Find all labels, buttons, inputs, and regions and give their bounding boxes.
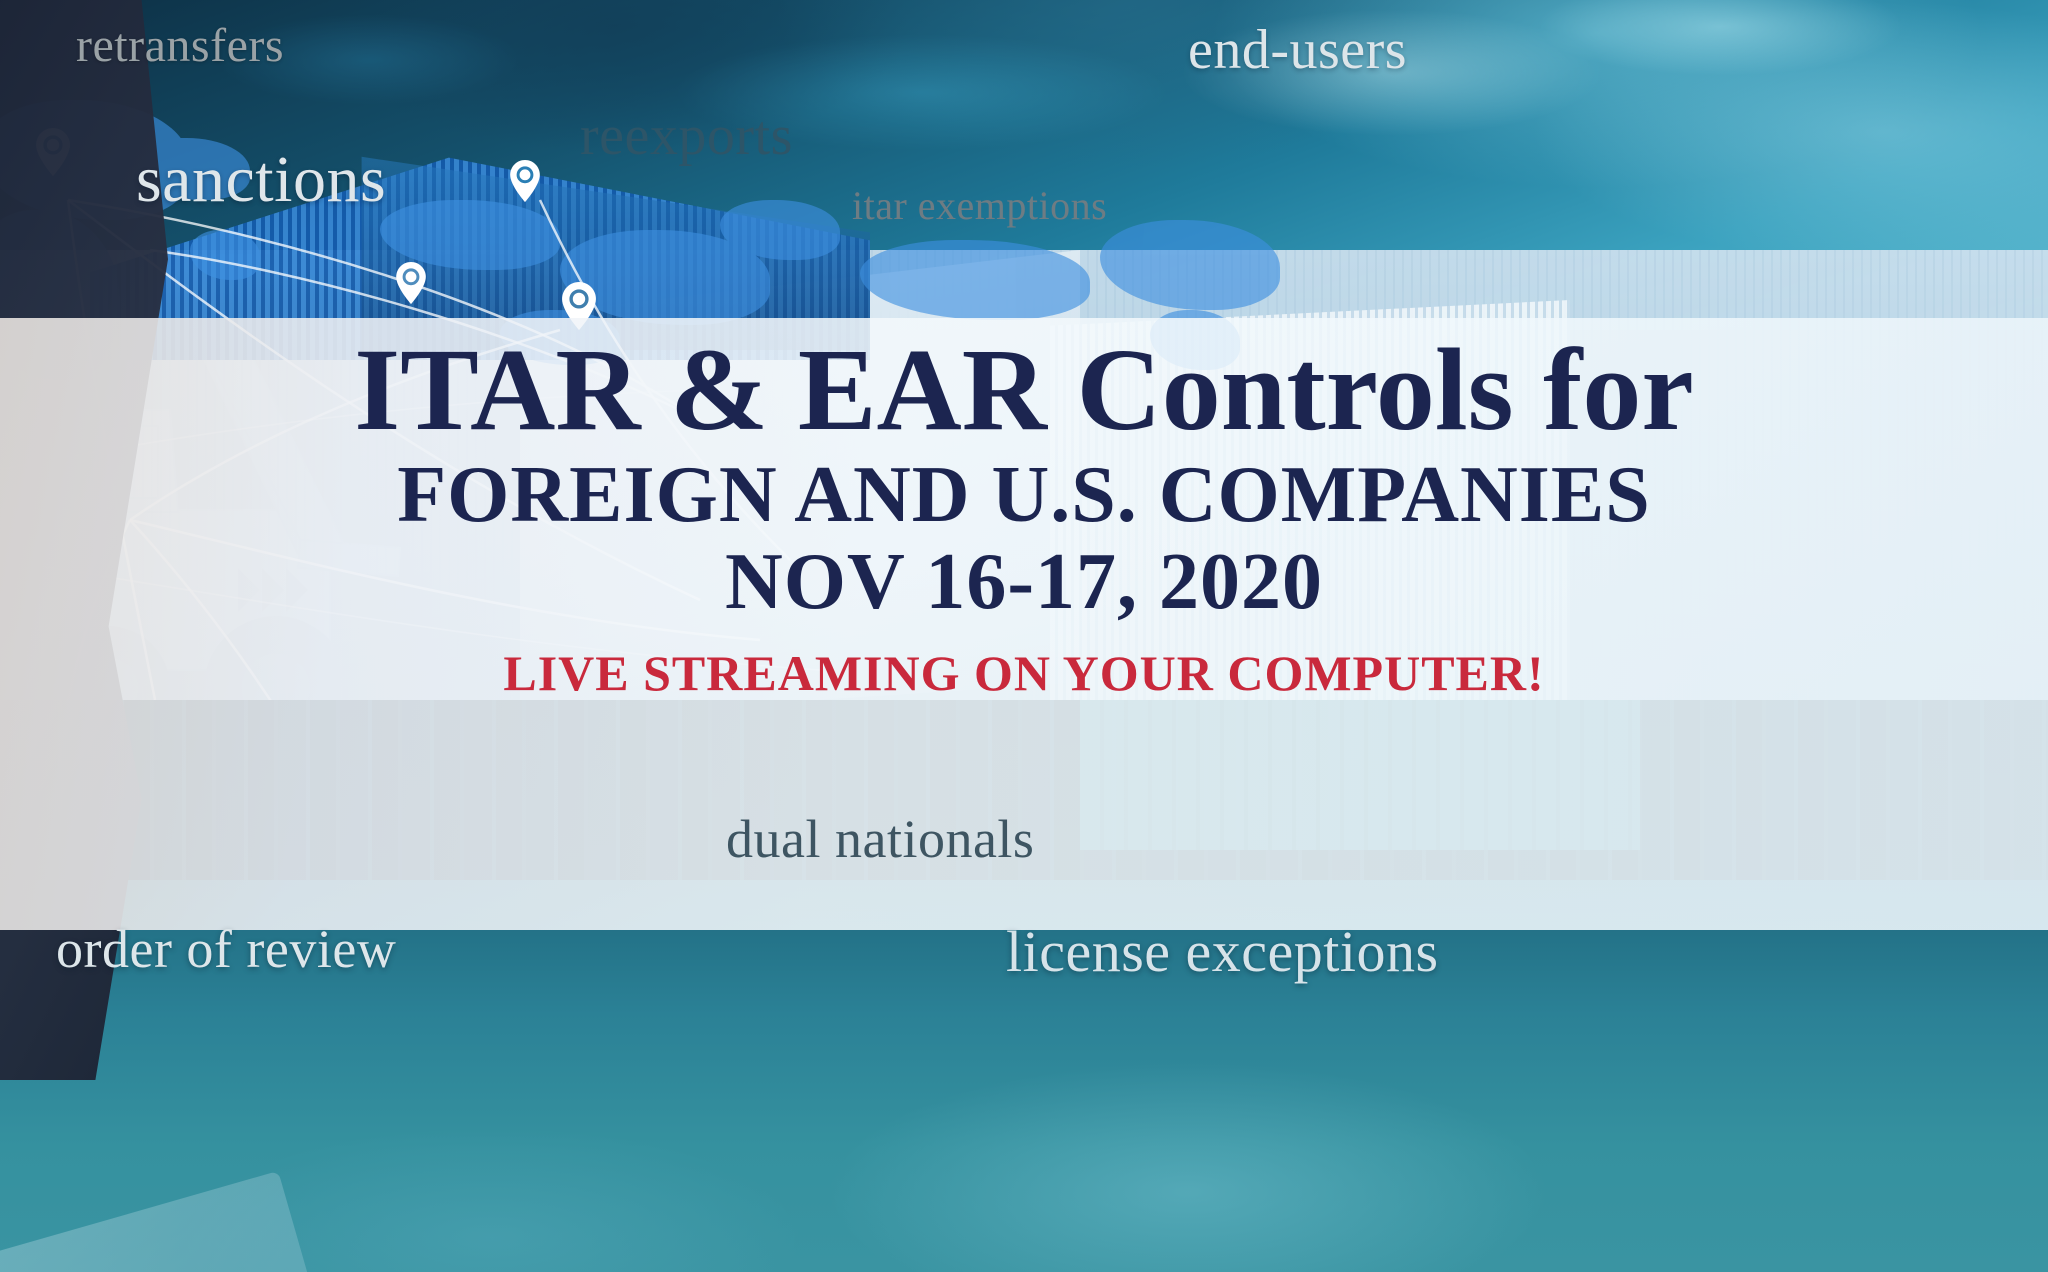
event-title: ITAR & EAR Controls for [0,318,2048,452]
keyword-reexports: reexports [580,104,793,168]
keyword-sanctions: sanctions [136,142,386,218]
map-pin-icon [396,262,426,309]
keyword-itar-exemptions: itar exemptions [852,182,1107,229]
promo-banner: retransfers sanctions reexports itar exe… [0,0,2048,1272]
event-date: NOV 16-17, 2020 [0,538,2048,628]
keyword-end-users: end-users [1188,18,1407,82]
keyword-order-of-review: order of review [56,918,396,980]
keyword-dual-nationals: dual nationals [726,808,1034,870]
keyword-retransfers: retransfers [76,18,284,73]
streaming-callout: LIVE STREAMING ON YOUR COMPUTER! [0,628,2048,701]
map-pin-icon [510,160,540,207]
event-audience: FOREIGN AND U.S. COMPANIES [0,452,2048,538]
title-block: ITAR & EAR Controls for FOREIGN AND U.S.… [0,318,2048,701]
keyword-license-exceptions: license exceptions [1006,918,1439,985]
